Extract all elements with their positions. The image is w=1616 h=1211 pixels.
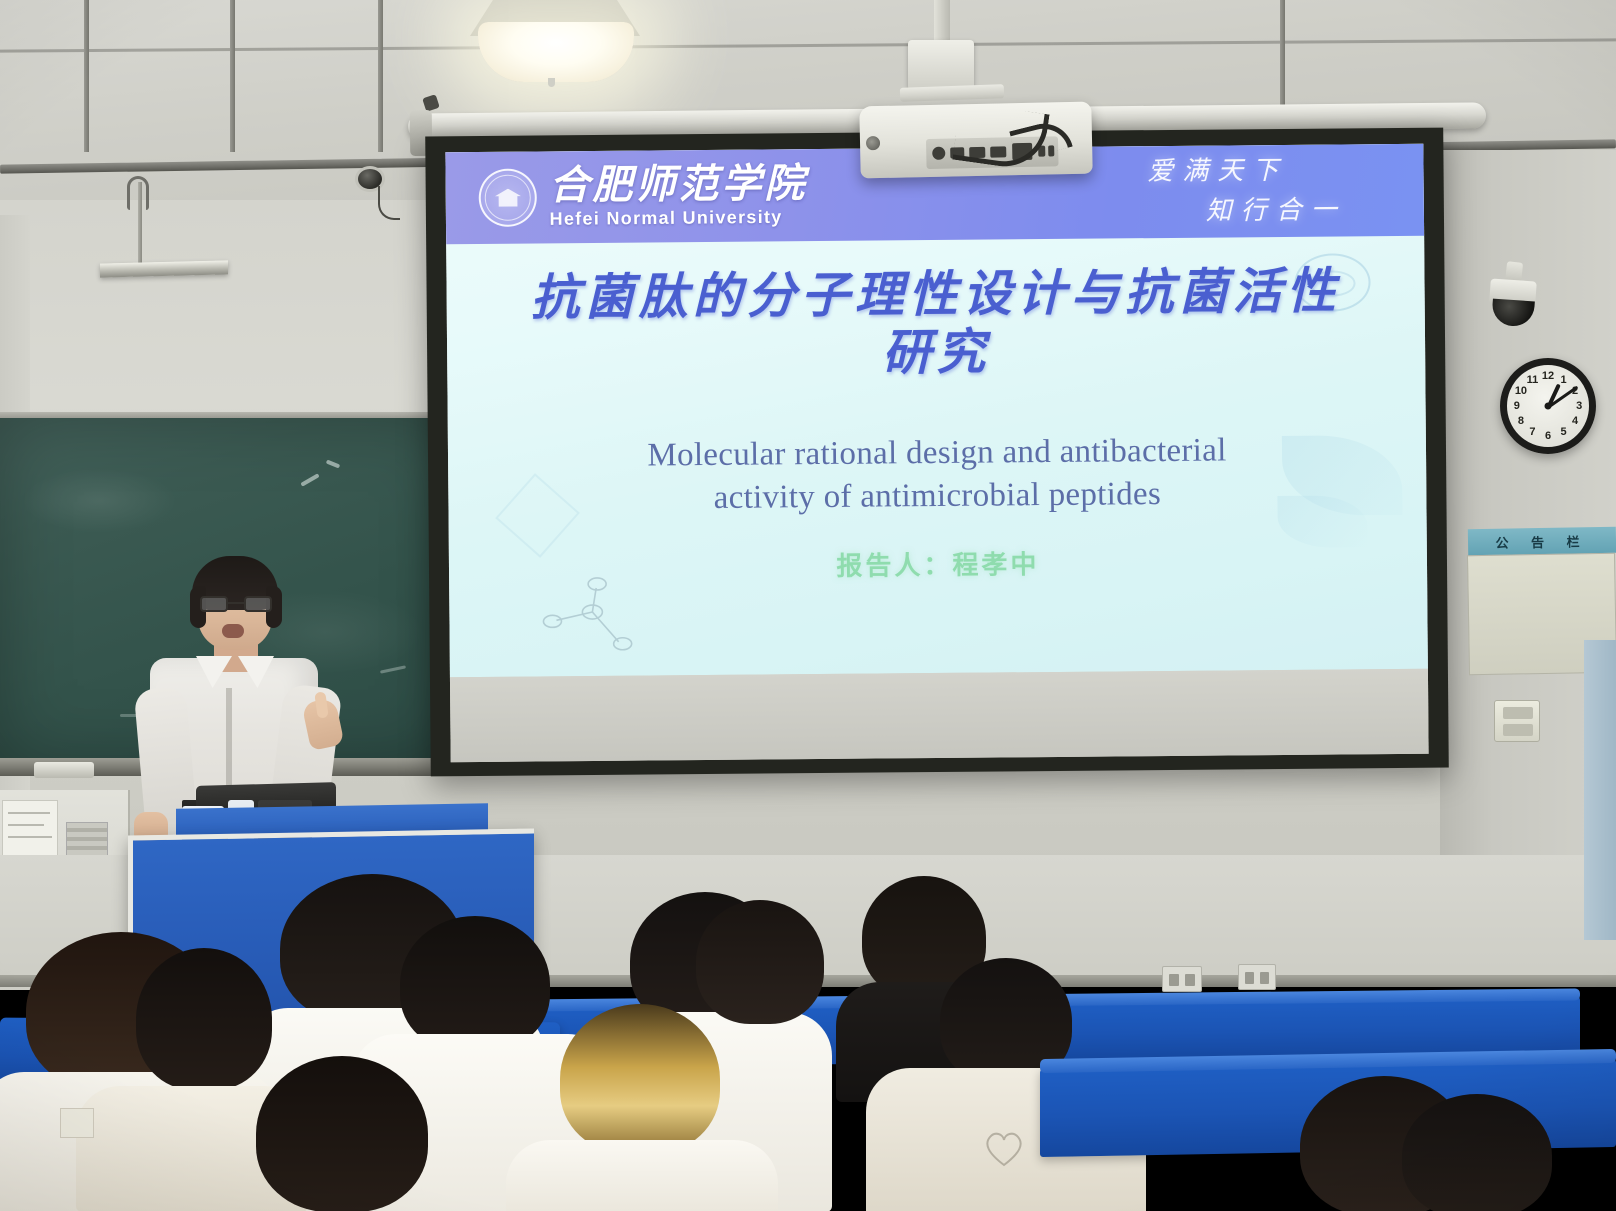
sensor-wire [378,186,400,220]
clock-number: 12 [1542,370,1554,382]
motto-line-1: 爱满天下 [1147,156,1287,187]
audience-head [256,1056,428,1211]
clock-number: 10 [1515,385,1527,397]
power-outlet[interactable] [1162,966,1202,992]
university-name-cn: 合肥师范学院 [549,163,807,207]
audience-body [506,1140,778,1211]
audience-head [1402,1094,1552,1211]
ceiling-conduit-branch [230,0,235,152]
ceiling-conduit-branch [1280,0,1285,118]
university-seal-icon [479,168,538,227]
presentation-slide: 合肥师范学院 Hefei Normal University 爱满天下 知行合一 [445,144,1428,677]
audience-head [400,916,550,1052]
clock-number: 9 [1514,400,1520,412]
university-motto: 爱满天下 知行合一 [1147,150,1346,232]
ceiling-conduit-branch [84,0,89,152]
clock-center-pin [1545,403,1552,410]
motto-line-2: 知行合一 [1147,190,1345,232]
slide-title-en: Molecular rational design and antibacter… [546,429,1329,522]
screen-blank-area [450,668,1429,762]
shirt-print [60,1108,94,1138]
audience-head-blonde [560,1004,720,1154]
ceiling-light-glow [478,22,634,82]
wall-clock: 12 1 2 3 4 5 6 7 8 9 10 11 [1500,358,1596,454]
ceiling-light-pin [548,78,555,87]
ceiling-conduit-branch [378,0,383,152]
slide-title-en-line2: activity of antimicrobial peptides [546,472,1329,522]
glasses-icon [198,596,274,612]
notice-paper-line [8,836,52,838]
light-hanger-rod [138,182,142,264]
clock-number: 6 [1545,430,1551,442]
clock-number: 7 [1529,426,1535,438]
slide-presenter: 报告人：程孝中 [449,541,1427,587]
light-switch-plate[interactable] [1494,700,1540,742]
lecture-hall-scene: 合肥师范学院 Hefei Normal University 爱满天下 知行合一 [0,0,1616,1211]
clock-number: 8 [1518,415,1524,427]
notice-board-label: 公 告 栏 [1468,527,1616,556]
audience-head [696,900,824,1024]
audience-head [136,948,272,1090]
projection-screen[interactable]: 合肥师范学院 Hefei Normal University 爱满天下 知行合一 [425,128,1449,777]
power-outlet[interactable] [1238,964,1276,990]
presenter-mouth [222,624,244,638]
projector-mount-plate [908,40,974,90]
projector-lens-icon [866,136,880,150]
presenter-collar [196,656,274,690]
university-name-en: Hefei Normal University [550,207,808,230]
slide-title-en-line1: Molecular rational design and antibacter… [546,429,1329,479]
screen-surface: 合肥师范学院 Hefei Normal University 爱满天下 知行合一 [445,144,1428,763]
clock-number: 4 [1572,415,1578,427]
notice-paper-line [8,812,50,814]
heart-graphic-icon [982,1128,1026,1168]
slide-title-cn: 抗菌肽的分子理性设计与抗菌活性研究 [510,262,1362,385]
notice-paper-line [8,824,44,826]
clock-number: 1 [1561,374,1567,386]
clock-number: 3 [1576,400,1582,412]
door-panel[interactable] [1584,640,1616,940]
blackboard-eraser[interactable] [34,762,94,778]
slide-body: 抗菌肽的分子理性设计与抗菌活性研究 Molecular rational des… [446,236,1428,677]
university-branding: 合肥师范学院 Hefei Normal University [549,163,808,230]
clock-number: 11 [1527,374,1539,386]
clock-number: 5 [1561,426,1567,438]
